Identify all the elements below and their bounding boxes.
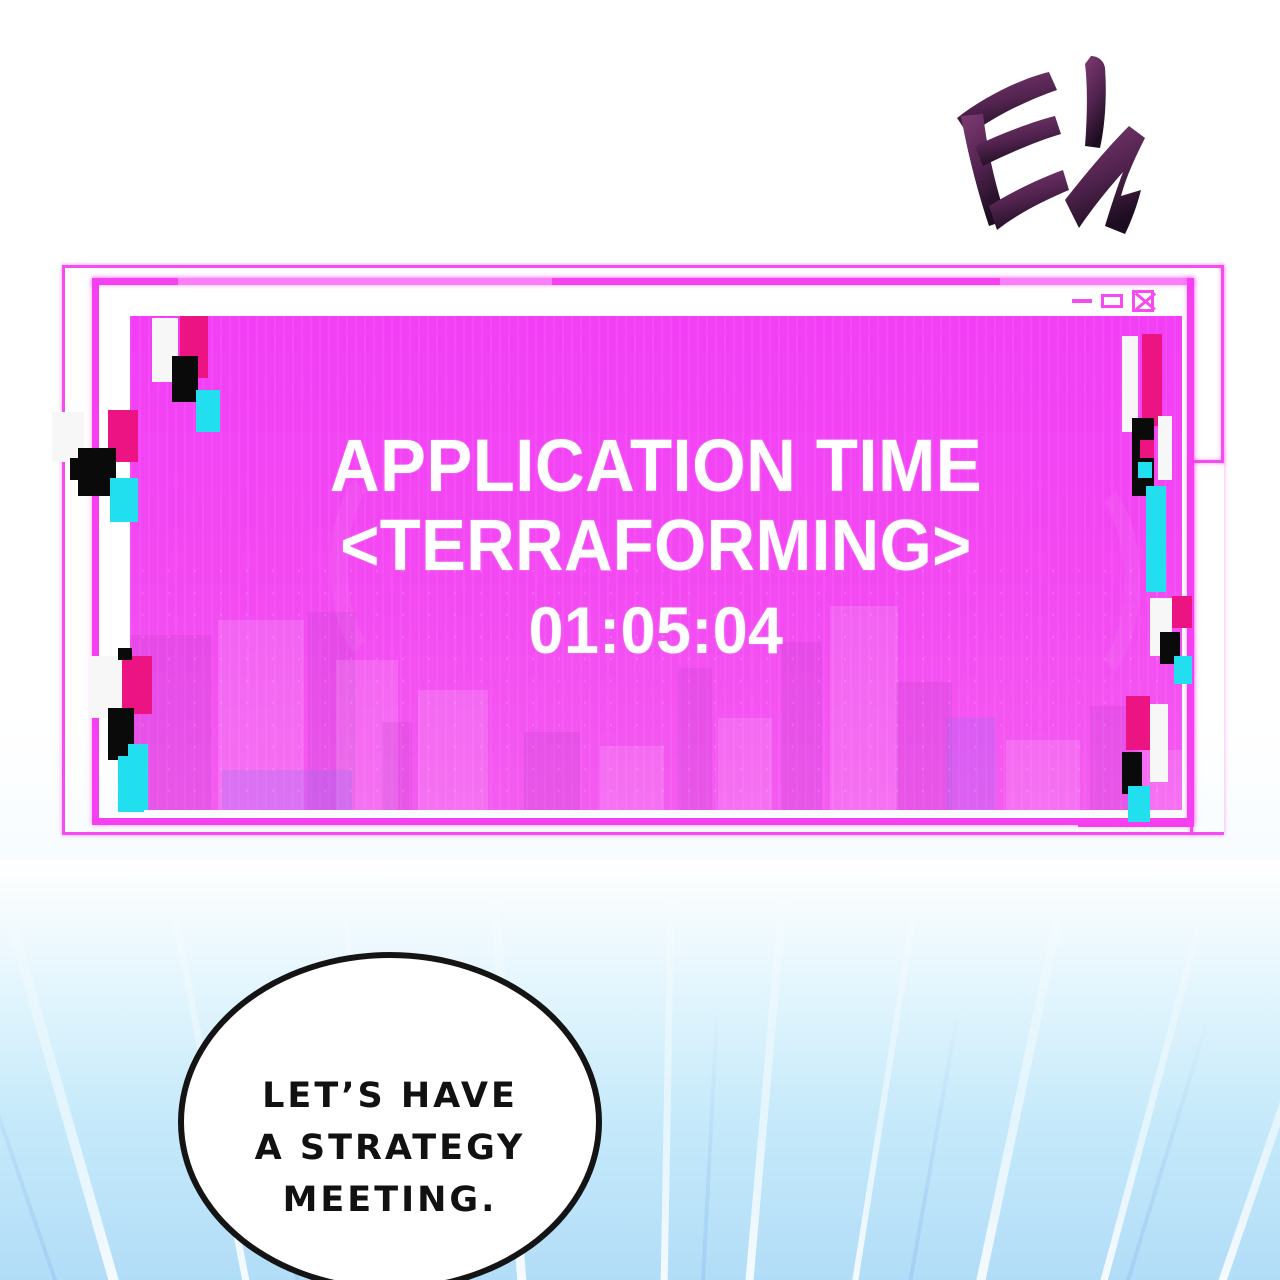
window-inner-frame-top: [92, 278, 1194, 285]
terraforming-screen: APPLICATION TIME <TERRAFORMING> 01:05:04: [130, 316, 1182, 810]
minimize-icon[interactable]: [1072, 299, 1092, 303]
screen-mode: <TERRAFORMING>: [167, 506, 1145, 586]
screen-title: APPLICATION TIME: [167, 426, 1145, 506]
window-outer-frame-step: [1190, 460, 1224, 463]
close-icon[interactable]: [1132, 290, 1154, 312]
dialogue-line-1: LET’S HAVE: [184, 1070, 596, 1122]
window-outer-frame-right-top: [1221, 265, 1224, 463]
dialogue-line-2: A STRATEGY: [184, 1122, 596, 1174]
screen-readout: APPLICATION TIME <TERRAFORMING> 01:05:04: [130, 426, 1182, 670]
speech-bubble-text: LET’S HAVE A STRATEGY MEETING.: [184, 1070, 596, 1226]
comic-panel: APPLICATION TIME <TERRAFORMING> 01:05:04: [0, 0, 1280, 1280]
speech-bubble: LET’S HAVE A STRATEGY MEETING.: [178, 952, 602, 1280]
window-controls: [1072, 290, 1154, 312]
window-inner-frame-right: [1187, 278, 1194, 825]
screen-timer: 01:05:04: [156, 590, 1155, 670]
maximize-icon[interactable]: [1101, 294, 1123, 308]
dialogue-line-3: MEETING.: [184, 1174, 596, 1226]
brand-logo-icon: [945, 50, 1160, 235]
